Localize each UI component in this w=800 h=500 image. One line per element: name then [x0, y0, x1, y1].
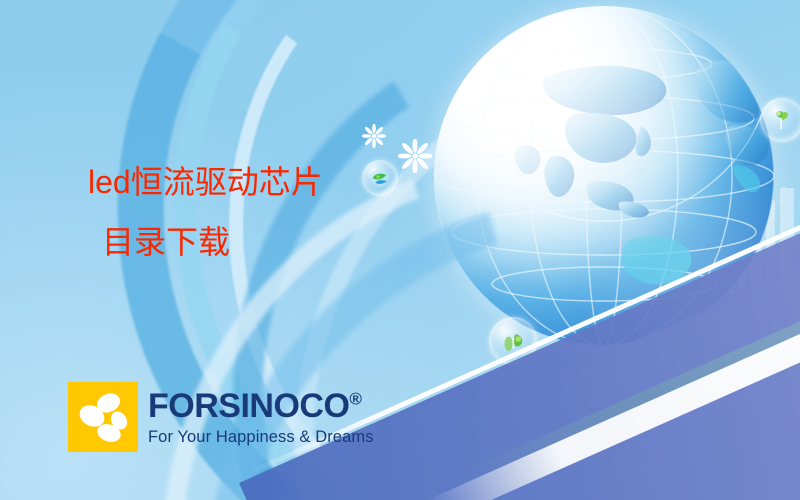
mini-globe-icon [369, 167, 391, 189]
brand-word: FORSINOCO [148, 387, 349, 425]
white-flower-large-icon [398, 139, 432, 173]
logo-text-block: FORSINOCO® For Your Happiness & Dreams [148, 389, 374, 446]
brand-name: FORSINOCO® [148, 389, 374, 423]
globe-map-svg [434, 6, 774, 346]
bubble-globe [362, 160, 398, 196]
brand-tagline: For Your Happiness & Dreams [148, 429, 374, 446]
green-leaf-icon [499, 327, 528, 356]
pinwheel-logo-icon [68, 382, 138, 452]
bubble-plant [760, 98, 800, 142]
slide-title-line-2: 目录下载 [102, 226, 323, 258]
slide-canvas: led恒流驱动芯片 目录下载 FORSINOCO® For Your Happi… [0, 0, 800, 500]
registered-trademark-icon: ® [349, 389, 361, 408]
globe-sphere [434, 6, 774, 346]
bubble-leaf [489, 317, 537, 365]
slide-title-line-1: led恒流驱动芯片 [88, 164, 323, 200]
white-flower-small-icon [362, 124, 386, 148]
globe [434, 6, 774, 346]
green-plant-icon [769, 107, 795, 133]
company-logo: FORSINOCO® For Your Happiness & Dreams [68, 382, 374, 452]
slide-title: led恒流驱动芯片 目录下载 [88, 166, 323, 258]
